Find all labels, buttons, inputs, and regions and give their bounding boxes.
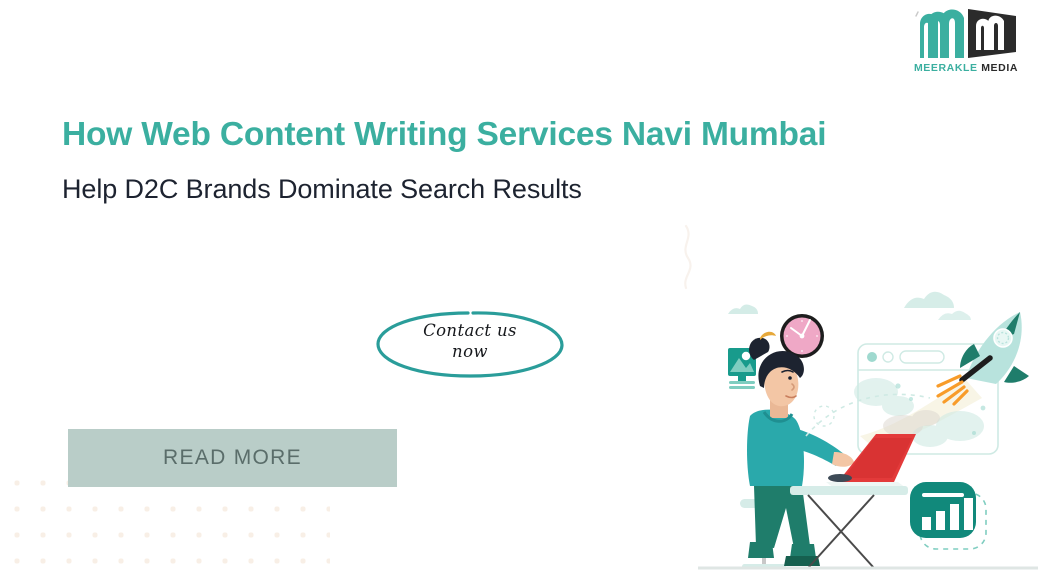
read-more-button[interactable]: READ MORE — [68, 429, 397, 487]
logo[interactable]: MEERAKLE MEDIA — [908, 4, 1024, 86]
hero-illustration — [698, 286, 1038, 576]
cloud-shapes — [728, 292, 971, 320]
page-subtitle: Help D2C Brands Dominate Search Results — [62, 174, 582, 205]
logo-wordmark: MEERAKLE MEDIA — [908, 62, 1024, 74]
contact-line-1: Contact us — [372, 320, 568, 341]
logo-word-primary: MEERAKLE — [914, 62, 978, 74]
contact-line-2: now — [372, 341, 568, 362]
contact-us-text: Contact us now — [372, 320, 568, 362]
poster-canvas: MEERAKLE MEDIA How Web Content Writing S… — [0, 0, 1038, 576]
person-at-desk — [740, 332, 854, 569]
logo-mark-icon — [908, 4, 1024, 62]
page-title: How Web Content Writing Services Navi Mu… — [62, 116, 826, 154]
logo-word-secondary: MEDIA — [981, 62, 1018, 74]
bar-chart-icon — [910, 482, 986, 549]
contact-us-badge[interactable]: Contact us now — [372, 306, 568, 382]
decorative-swirl — [660, 222, 720, 292]
